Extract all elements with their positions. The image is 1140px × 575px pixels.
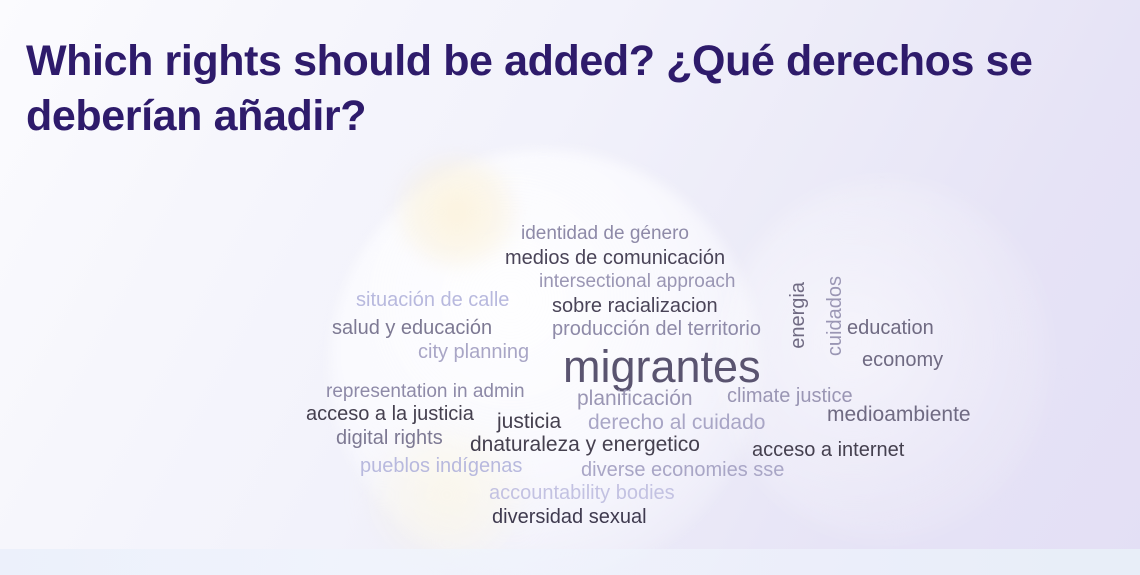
cloud-word[interactable]: digital rights <box>336 428 443 448</box>
cloud-word[interactable]: acceso a internet <box>752 440 904 460</box>
cloud-word[interactable]: identidad de género <box>521 224 689 243</box>
cloud-word[interactable]: cuidados <box>825 276 845 356</box>
cloud-word[interactable]: producción del territorio <box>552 319 761 339</box>
cloud-word[interactable]: dnaturaleza y energetico <box>470 434 700 455</box>
cloud-word[interactable]: diverse economies sse <box>581 460 784 480</box>
cloud-word[interactable]: situación de calle <box>356 290 509 310</box>
word-cloud: identidad de géneromedios de comunicació… <box>0 0 1140 575</box>
cloud-word[interactable]: acceso a la justicia <box>306 404 474 424</box>
cloud-word[interactable]: pueblos indígenas <box>360 456 522 476</box>
cloud-word[interactable]: sobre racializacion <box>552 296 718 316</box>
cloud-word[interactable]: medios de comunicación <box>505 248 725 268</box>
cloud-word[interactable]: city planning <box>418 342 529 362</box>
cloud-word[interactable]: migrantes <box>563 344 761 389</box>
cloud-word[interactable]: salud y educación <box>332 318 492 338</box>
cloud-word[interactable]: accountability bodies <box>489 483 675 503</box>
cloud-word[interactable]: energia <box>788 282 808 349</box>
cloud-word[interactable]: derecho al cuidado <box>588 412 765 433</box>
cloud-word[interactable]: economy <box>862 350 943 370</box>
slide-canvas: Which rights should be added? ¿Qué derec… <box>0 0 1140 575</box>
cloud-word[interactable]: education <box>847 318 934 338</box>
cloud-word[interactable]: diversidad sexual <box>492 507 647 527</box>
cloud-word[interactable]: representation in admin <box>326 382 525 401</box>
cloud-word[interactable]: intersectional approach <box>539 272 735 291</box>
cloud-word[interactable]: medioambiente <box>827 404 971 425</box>
cloud-word[interactable]: justicia <box>497 411 561 432</box>
cloud-word[interactable]: planificación <box>577 388 693 409</box>
